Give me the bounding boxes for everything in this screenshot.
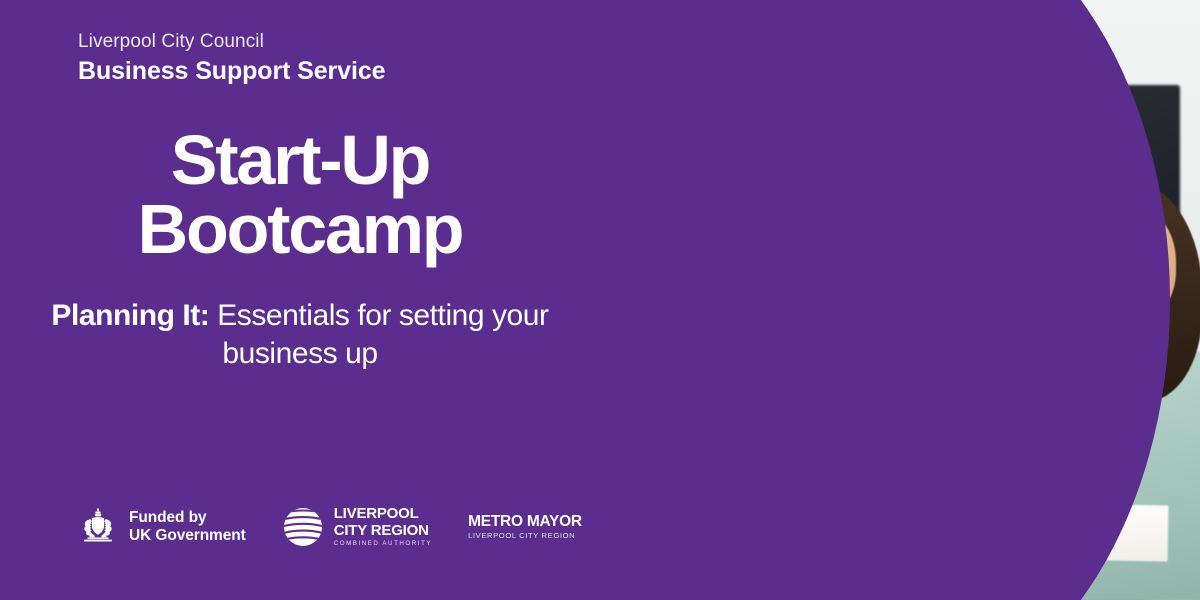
curved-edge (610, 0, 1170, 600)
event-subtitle-bold: Planning It: (51, 299, 209, 332)
service-name: Business Support Service (78, 56, 385, 87)
lcr-sphere-icon (282, 506, 324, 548)
metro-mayor-title: METRO MAYOR (468, 514, 582, 530)
event-title-line1: Start-Up (0, 126, 600, 195)
event-subtitle: Planning It: Essentials for setting your… (48, 297, 553, 374)
event-title-line2: Bootcamp (0, 195, 600, 264)
council-name: Liverpool City Council (78, 30, 385, 54)
uk-government-label: Funded by UK Government (129, 509, 246, 545)
metro-mayor-subtitle: LIVERPOOL CITY REGION (468, 532, 582, 540)
brand-lockup: Liverpool City Council Business Support … (78, 30, 385, 86)
banner-content: Liverpool City Council Business Support … (0, 0, 600, 600)
lcr-line3: COMBINED AUTHORITY (334, 541, 432, 547)
metro-mayor-logo: METRO MAYOR LIVERPOOL CITY REGION (468, 514, 582, 540)
royal-coat-of-arms-icon (78, 508, 118, 546)
event-banner: Liverpool City Council Business Support … (0, 0, 1200, 600)
lcr-wordmark: LIVERPOOL CITY REGION COMBINED AUTHORITY (334, 506, 432, 547)
liverpool-city-region-logo: LIVERPOOL CITY REGION COMBINED AUTHORITY (282, 506, 432, 548)
lcr-line2: CITY REGION (334, 523, 432, 538)
uk-government-logo: Funded by UK Government (78, 508, 246, 546)
lcr-line1: LIVERPOOL (334, 506, 432, 521)
title-block: Start-Up Bootcamp Planning It: Essential… (0, 126, 600, 373)
event-subtitle-rest: Essentials for setting your business up (209, 299, 548, 370)
funder-logo-row: Funded by UK Government (78, 506, 582, 548)
